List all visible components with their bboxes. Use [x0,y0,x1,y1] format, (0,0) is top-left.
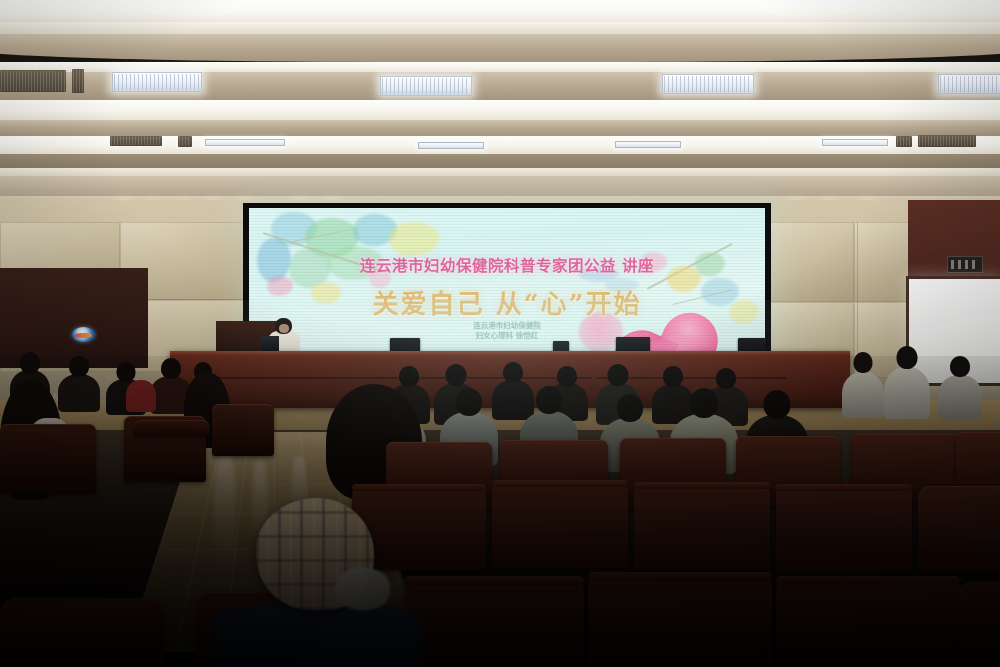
person-head [716,368,736,389]
person-head [536,386,562,414]
speaker-laptop [262,336,279,351]
chair-backrest-rail [588,572,772,581]
air-vent [0,70,66,92]
person-head [950,356,970,377]
person-head [503,362,523,383]
auditorium-chair[interactable] [492,480,628,568]
auditorium-chair[interactable] [776,484,912,572]
auditorium-chair[interactable] [404,576,584,667]
audience-member [842,352,884,416]
chair-backrest-rail [634,482,770,489]
auditorium-chair[interactable] [956,582,1000,667]
audience-member [884,346,930,418]
air-vent [72,69,84,93]
auditorium-chair[interactable] [212,404,274,456]
ceiling-panel-light [938,74,1000,94]
auditorium-chair[interactable] [634,482,770,570]
audience-member [938,356,982,418]
floor-reflection [214,452,236,572]
person-head [557,366,577,387]
person-torso [842,372,884,418]
ceiling-slot-light [205,139,285,146]
speaker-face [279,324,289,333]
auditorium-chair[interactable] [918,486,1000,572]
projection-screen: .heart.hl::before,.heart.hl::after{backg… [249,208,765,351]
podium-desk-seam [218,377,398,379]
person-head [764,390,791,419]
ceiling-panel-light [380,76,472,96]
screen-main-title: 关爱自己 从“心”开始 [249,284,765,321]
screen-subtitle-line1: 连云港市妇幼保健院 [249,321,765,331]
wall-marble-panel [854,222,914,302]
person-torso [126,380,156,412]
air-vent [110,136,162,146]
chair-backrest-rail [404,576,584,585]
projection-screen-frame: .heart.hl::before,.heart.hl::after{backg… [243,203,771,355]
plaid-bag-strap [336,568,390,610]
auditorium-chair[interactable] [134,420,210,436]
wall-plaque [947,256,983,273]
ceiling-slot-light [822,139,888,146]
chair-backrest-rail [776,484,912,491]
air-vent [896,136,912,147]
screen-heading: 连云港市妇幼保健院科普专家团公益 讲座 [249,254,765,276]
person-head [617,394,643,422]
ceiling-slot-light [418,142,484,149]
person-head [456,388,482,416]
screen-subtitle-line2: 妇女心理科 徐恺红 [249,331,765,341]
audience-member [126,366,156,410]
chair-backrest-rail [492,480,628,487]
auditorium-chair[interactable] [776,576,960,667]
person-head [854,352,873,373]
person-head [608,364,629,386]
auditorium-chair[interactable] [0,598,164,667]
audience-member [58,356,100,410]
person-torso [58,374,100,412]
person-head [690,388,718,418]
wall-emblem-icon [72,327,95,342]
auditorium-chair[interactable] [0,424,96,494]
ceiling [0,0,1000,212]
audience-member-front [212,604,422,667]
decor-leaf [389,222,439,256]
wall-marble-panel [770,222,854,302]
person-torso [884,367,930,419]
ceiling-panel-light [662,74,754,94]
podium-desk-top [170,351,850,356]
air-vent [918,135,976,147]
auditorium-chair[interactable] [588,572,772,667]
chair-backrest-rail [776,576,960,585]
auditorium-photo: .heart.hl::before,.heart.hl::after{backg… [0,0,1000,667]
person-head [897,346,918,369]
person-head [446,364,467,386]
person-torso [212,604,422,667]
person-head [20,352,40,374]
ceiling-slot-light [615,141,681,148]
person-head [161,358,181,379]
ceiling-panel-light [112,72,202,92]
air-vent [178,136,192,147]
person-torso [938,375,982,419]
person-head [69,356,89,377]
chair-backrest-rail [352,484,486,491]
person-head [663,366,683,387]
